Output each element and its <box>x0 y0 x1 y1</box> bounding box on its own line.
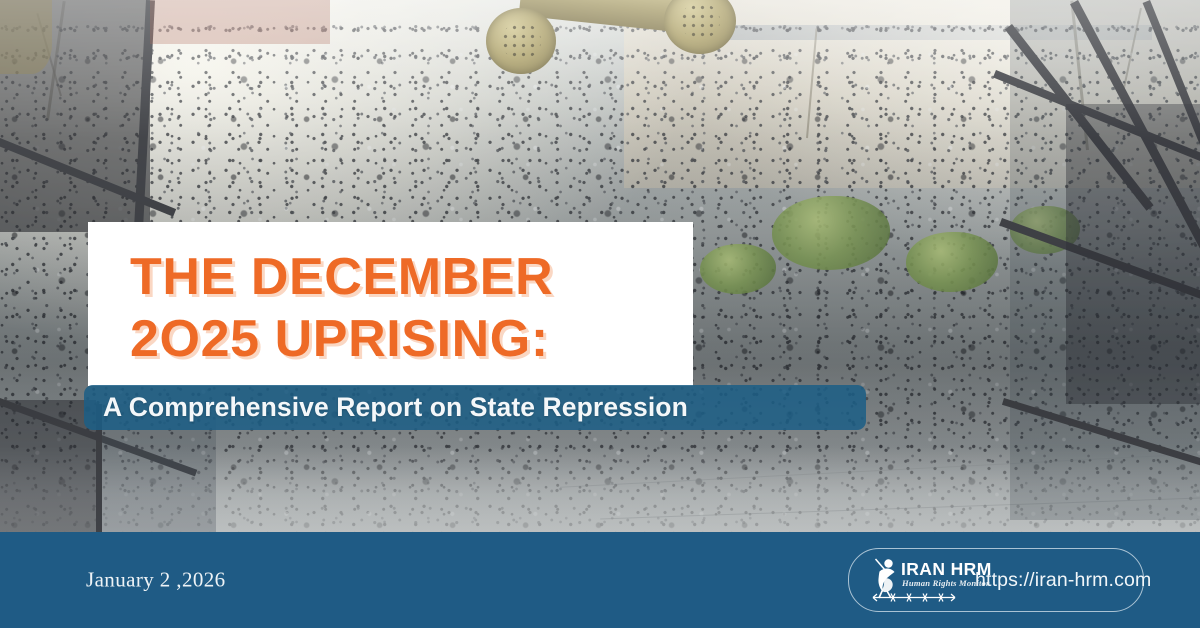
iran-hrm-logo: IRAN HRM Human Rights Monitor <box>867 557 959 603</box>
title-line-1: THE DECEMBER <box>130 246 553 308</box>
brand-tagline: Human Rights Monitor <box>902 578 990 588</box>
brand-pill[interactable]: IRAN HRM Human Rights Monitor https://ir… <box>848 548 1144 612</box>
title-block: THE DECEMBER 2O25 UPRISING: <box>130 246 553 370</box>
title-line-2: 2O25 UPRISING: <box>130 308 553 370</box>
brand-name: IRAN HRM <box>901 560 992 579</box>
title-card: THE DECEMBER 2O25 UPRISING: <box>88 222 693 386</box>
subtitle-text: A Comprehensive Report on State Repressi… <box>103 392 688 423</box>
banner-canvas: THE DECEMBER 2O25 UPRISING: A Comprehens… <box>0 0 1200 628</box>
subtitle-bar: A Comprehensive Report on State Repressi… <box>84 385 866 430</box>
publication-date: January 2 ,2026 <box>86 568 226 593</box>
footer-bar: January 2 ,2026 <box>0 532 1200 628</box>
brand-url[interactable]: https://iran-hrm.com <box>975 569 1151 592</box>
